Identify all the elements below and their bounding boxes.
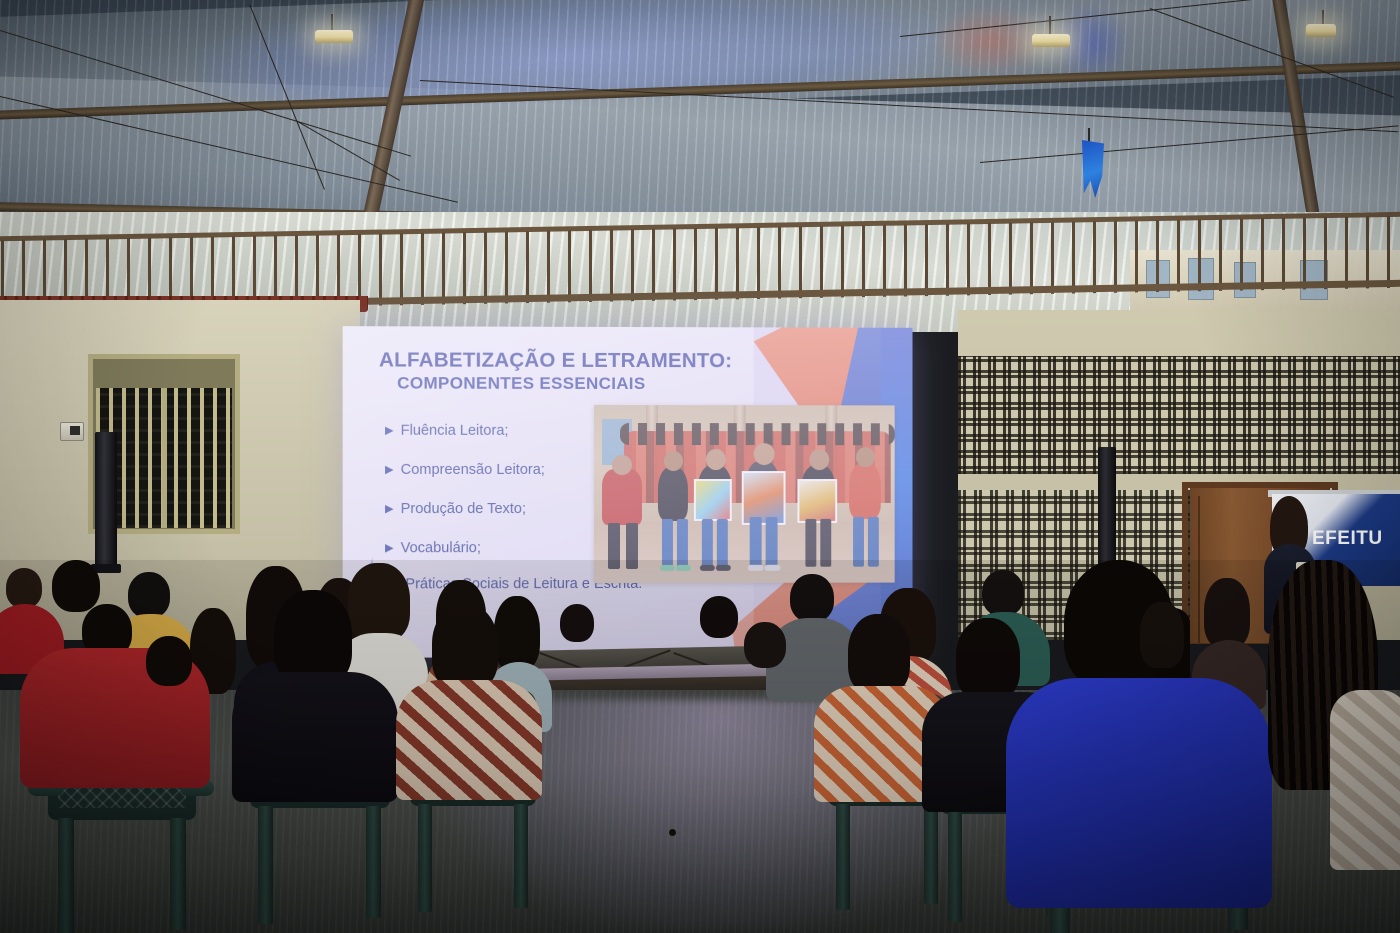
- light-rod: [331, 14, 333, 30]
- head: [560, 604, 594, 642]
- torso: [232, 672, 398, 802]
- head: [52, 560, 100, 612]
- torso: [396, 680, 542, 800]
- torso: [1006, 678, 1272, 908]
- chair-leg: [514, 804, 528, 908]
- light-rod: [1049, 16, 1051, 34]
- hair: [432, 604, 498, 690]
- hair: [956, 618, 1020, 700]
- head: [700, 596, 738, 638]
- speaker-tower-left: [95, 432, 117, 572]
- chair-leg: [58, 818, 74, 933]
- chair-leg: [258, 806, 273, 924]
- head: [128, 572, 170, 618]
- hair: [848, 614, 910, 694]
- hair: [348, 563, 410, 641]
- torso: [1330, 690, 1400, 870]
- chair-leg: [418, 804, 432, 912]
- head: [744, 622, 786, 668]
- chair-leg: [948, 812, 962, 922]
- ceiling: [0, 0, 1400, 232]
- window-mullion: [162, 388, 167, 528]
- head: [790, 574, 834, 622]
- hair: [494, 596, 540, 670]
- chair-leg: [170, 818, 186, 930]
- ceiling-light: [1306, 24, 1336, 37]
- ceiling-light: [1032, 34, 1070, 47]
- head: [146, 636, 192, 686]
- chair-leg: [366, 806, 381, 918]
- hair: [1204, 578, 1250, 648]
- speaker-tower-right: [1098, 447, 1116, 577]
- banner-text: EFEITU: [1312, 528, 1400, 549]
- floor-debris-spot: [669, 829, 676, 836]
- corrugated-texture: [0, 0, 1400, 232]
- head: [6, 568, 42, 608]
- electrical-box[interactable]: [60, 422, 84, 441]
- ceiling-light: [315, 30, 353, 43]
- hair: [1140, 602, 1184, 668]
- photo-scene: EFEITU ALFABETIZAÇÃO E LETRAMENTO: COMPO…: [0, 0, 1400, 933]
- chair-leg: [836, 804, 850, 910]
- head: [982, 570, 1024, 616]
- light-rod: [1322, 10, 1324, 24]
- cobogo-block-wall-upper: [958, 356, 1400, 474]
